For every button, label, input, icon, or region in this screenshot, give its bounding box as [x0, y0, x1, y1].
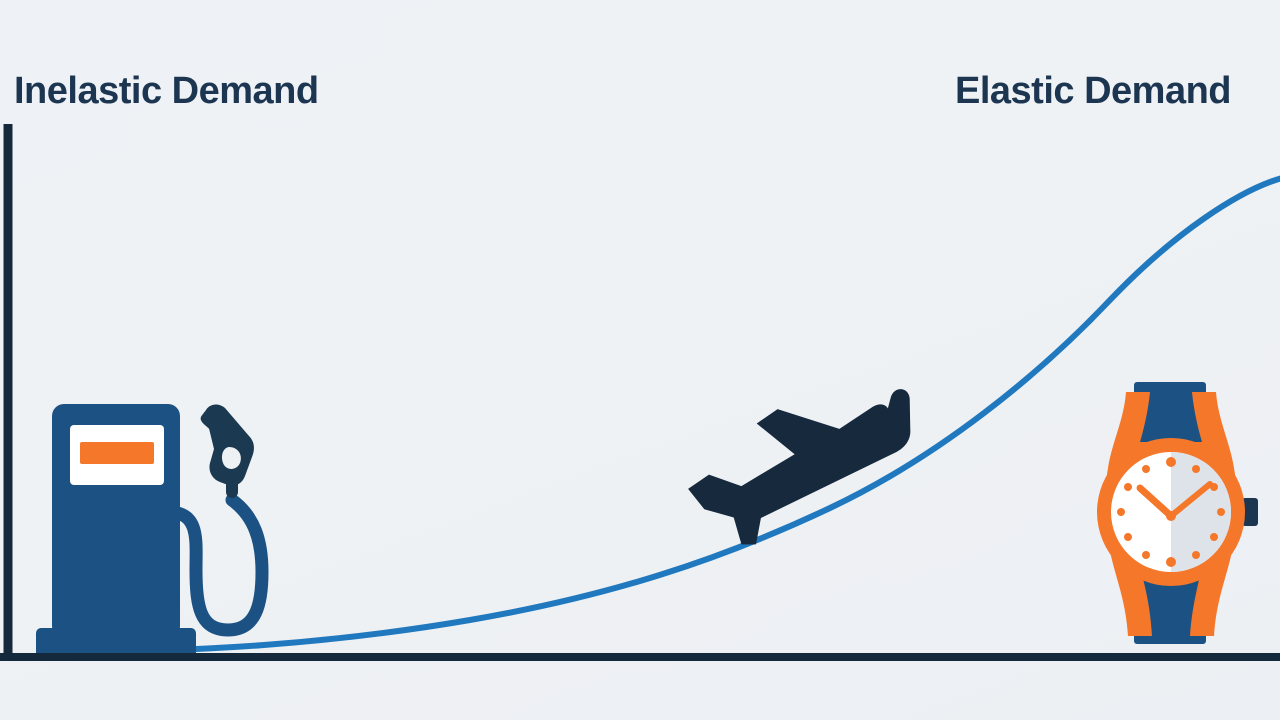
illustration-canvas: Inelastic Demand Elastic Demand [0, 0, 1280, 720]
airplane-icon [674, 373, 937, 558]
gas-pump-icon [36, 404, 262, 658]
gas-pump-display-bar [80, 442, 154, 464]
wristwatch-icon [1097, 382, 1258, 644]
chart-graphics [0, 0, 1280, 720]
